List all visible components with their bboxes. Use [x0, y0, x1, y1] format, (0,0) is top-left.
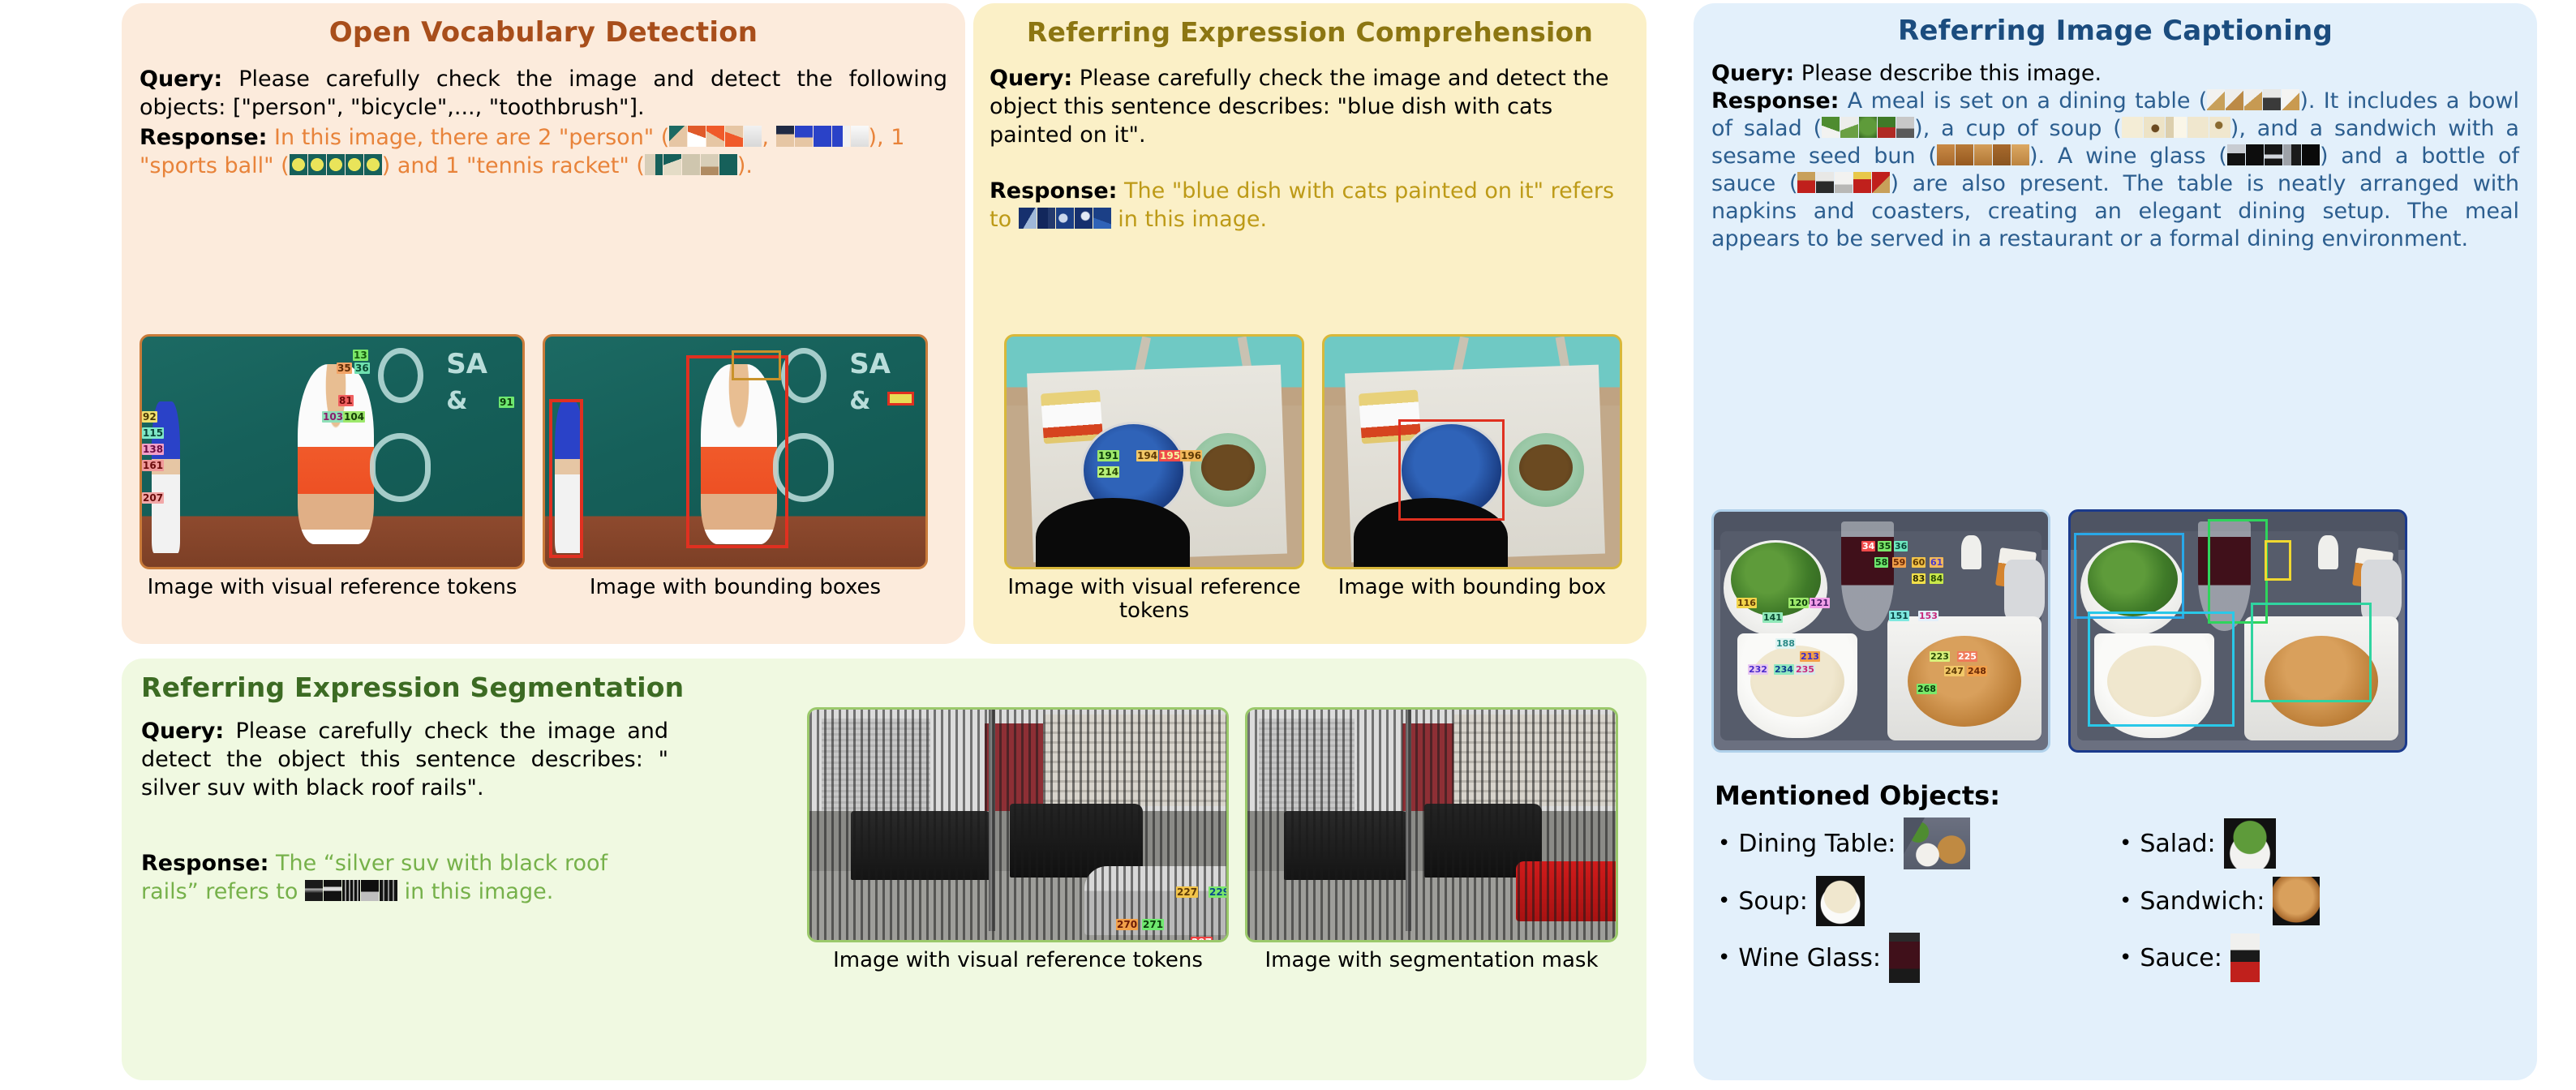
ovd-token-chips-sports-ball: [290, 154, 382, 175]
ovd-caption-left: Image with visual reference tokens: [140, 576, 525, 599]
ovd-query-block: Query: Please carefully check the image …: [140, 65, 947, 122]
token-badge: 36: [1894, 541, 1908, 551]
bullet-icon: •: [2119, 890, 2132, 912]
ric-image-bounding-boxes: [2068, 509, 2407, 753]
token-badge: 196: [1180, 450, 1202, 461]
token-badge: 104: [343, 411, 365, 423]
token-badge: 36: [354, 363, 370, 374]
bbox-sauce: [2265, 540, 2291, 581]
panel-referring-expression-comprehension: Referring Expression Comprehension Query…: [973, 3, 1646, 644]
mentioned-object-label: Soup:: [1738, 887, 1808, 916]
sponsor-logo-circle: [378, 348, 423, 403]
rec-response-seg-2: in this image.: [1118, 207, 1267, 232]
res-caption-right-text: Image with segmentation mask: [1264, 948, 1598, 972]
ric-query-text: Please describe this image.: [1801, 61, 2102, 86]
panel-title-referring-expression-segmentation: Referring Expression Segmentation: [141, 672, 1646, 703]
token-badge: 58: [1874, 557, 1888, 568]
token-badge: 13: [353, 350, 368, 361]
panel-referring-expression-segmentation: Referring Expression Segmentation Query:…: [122, 659, 1646, 1080]
napkin: [2004, 560, 2044, 621]
ric-response-label: Response:: [1711, 88, 1839, 114]
mentioned-object-item: • Sauce:: [2119, 933, 2513, 983]
bullet-icon: •: [1718, 833, 1730, 854]
ric-token-chips-sauce-bottle: [1797, 172, 1890, 193]
token-badge: 121: [1810, 598, 1830, 608]
figure-root: Open Vocabulary Detection Query: Please …: [0, 0, 2576, 1090]
ovd-response-label: Response:: [140, 125, 267, 150]
rec-caption-left: Image with visual reference tokens: [1004, 576, 1304, 623]
rec-token-chips-blue-dish: [1019, 208, 1111, 229]
token-badge: 234: [1774, 664, 1794, 675]
ovd-query-label: Query:: [140, 67, 222, 92]
token-badge: 61: [1930, 557, 1943, 568]
token-badge: 120: [1788, 598, 1809, 608]
mentioned-object-label: Salad:: [2140, 830, 2215, 858]
token-badge: 247: [1944, 666, 1964, 676]
ric-token-chips-salad: [1822, 117, 1914, 138]
fence-overlay: [1247, 710, 1616, 940]
sponsor-text-amp: &: [446, 389, 467, 414]
bullet-icon: •: [1718, 947, 1730, 968]
token-badge: 34: [1861, 541, 1875, 551]
ric-query-label: Query:: [1711, 61, 1794, 86]
bbox-sports-ball: [887, 392, 914, 406]
rec-caption-left-text: Image with visual reference tokens: [1007, 575, 1300, 623]
token-badge: 84: [1930, 573, 1943, 584]
mentioned-object-label: Wine Glass:: [1738, 944, 1881, 972]
rec-image-visual-reference-tokens: 191 214 194 195 196: [1004, 334, 1304, 569]
token-badge: 60: [1912, 557, 1926, 568]
token-badge: 161: [142, 460, 164, 471]
mentioned-object-item: • Soup:: [1718, 876, 2111, 926]
tennis-player-secondary: [152, 401, 180, 553]
token-badge: 194: [1136, 450, 1158, 461]
panel-title-referring-expression-comprehension: Referring Expression Comprehension: [973, 16, 1646, 48]
rec-query-block: Query: Please carefully check the image …: [990, 64, 1630, 149]
fence-overlay: [809, 710, 1226, 940]
tennis-player-primary: [298, 364, 374, 544]
sponsor-logo-lexus: [370, 433, 431, 502]
res-caption-left: Image with visual reference tokens: [807, 949, 1229, 972]
res-query-block: Query: Please carefully check the image …: [141, 717, 668, 802]
token-badge: 141: [1762, 612, 1783, 623]
ovd-response-seg-2: ,: [762, 125, 775, 150]
mentioned-object-label: Dining Table:: [1738, 830, 1896, 858]
mentioned-object-label: Sauce:: [2140, 944, 2222, 972]
ric-response-seg-1: A meal is set on a dining table (: [1848, 88, 2208, 114]
ovd-token-chips-person-a: [669, 126, 762, 147]
token-badge: 232: [1748, 664, 1768, 675]
ovd-token-chips-person-b: [776, 126, 869, 147]
thumbnail-soup: [1816, 876, 1865, 926]
ric-query-block: Query: Please describe this image.: [1711, 60, 2519, 88]
token-badge: 151: [1889, 611, 1909, 621]
res-caption-left-text: Image with visual reference tokens: [833, 948, 1203, 972]
ric-image-visual-reference-tokens: 34 35 36 58 59 60 61 83 84 116 120 121 1…: [1711, 509, 2050, 753]
token-badge: 59: [1892, 557, 1906, 568]
token-badge: 229: [1209, 886, 1229, 898]
token-badge: 191: [1097, 450, 1119, 461]
res-query-label: Query:: [141, 719, 224, 744]
ovd-image-bounding-boxes: SA &: [543, 334, 928, 569]
mentioned-objects-title: Mentioned Objects:: [1715, 780, 2000, 811]
ovd-response-seg-4: ) and 1 "tennis racket" (: [382, 153, 645, 178]
token-badge: 248: [1967, 666, 1987, 676]
mentioned-object-item: • Salad:: [2119, 817, 2513, 869]
bbox-salad: [2074, 533, 2184, 619]
ovd-response-seg-1: In this image, there are 2 "person" (: [274, 125, 669, 150]
token-badge: 92: [142, 411, 157, 423]
token-badge: 116: [1737, 598, 1757, 608]
res-response-label: Response:: [141, 851, 268, 876]
mentioned-object-item: • Dining Table:: [1718, 817, 2111, 869]
salt-shaker: [2318, 535, 2338, 569]
ric-token-chips-sandwich-bun: [1937, 144, 2029, 165]
token-badge: 227: [1176, 886, 1198, 898]
rec-caption-right: Image with bounding box: [1322, 576, 1622, 599]
token-badge: 83: [1912, 573, 1926, 584]
token-badge: 207: [142, 492, 164, 504]
black-cat: [1036, 498, 1189, 569]
token-badge: 225: [1957, 651, 1977, 662]
ovd-response-block: Response: In this image, there are 2 "pe…: [140, 123, 947, 180]
soup-liquid: [1750, 646, 1844, 717]
thumbnail-sauce: [2230, 933, 2260, 982]
ric-response-seg-3: ), a cup of soup (: [1914, 116, 2122, 141]
sesame-seed-bun: [1908, 636, 2021, 727]
token-badge: 153: [1918, 611, 1938, 621]
res-image-visual-reference-tokens: 227 229 270 271 297: [807, 707, 1229, 942]
ovd-token-chips-tennis-racket: [645, 154, 737, 175]
token-badge: 35: [337, 363, 352, 374]
ric-token-chips-dining-table: [2207, 89, 2299, 110]
token-badge: 270: [1116, 919, 1138, 930]
mentioned-object-label: Sandwich:: [2140, 887, 2265, 916]
token-badge: 235: [1795, 664, 1815, 675]
res-caption-right: Image with segmentation mask: [1245, 949, 1618, 972]
bbox-dining-table: [2088, 612, 2235, 726]
bullet-icon: •: [2119, 947, 2132, 968]
res-response-seg-2: in this image.: [405, 879, 554, 904]
ric-token-chips-soup: [2122, 117, 2230, 138]
token-badge: 138: [142, 444, 164, 455]
salt-shaker: [1961, 535, 1981, 569]
rec-query-text: Please carefully check the image and det…: [990, 66, 1609, 148]
token-badge: 214: [1097, 466, 1119, 478]
res-response-block: Response: The “silver suv with black roo…: [141, 849, 668, 906]
rec-query-label: Query:: [990, 66, 1072, 91]
ric-response-block: Response: A meal is set on a dining tabl…: [1711, 88, 2519, 253]
bbox-person-secondary: [549, 399, 583, 558]
ovd-caption-right-text: Image with bounding boxes: [590, 575, 881, 599]
panel-title-open-vocabulary-detection: Open Vocabulary Detection: [122, 16, 965, 49]
thumbnail-wine-glass: [1889, 933, 1920, 983]
ric-response-seg-5: ). A wine glass (: [2029, 144, 2227, 169]
ovd-image-visual-reference-tokens: SA & 13 35 36 81 103 104 91 92 115 138 1…: [140, 334, 525, 569]
mentioned-object-item: • Sandwich:: [2119, 876, 2513, 926]
token-badge: 297: [1191, 937, 1213, 942]
rec-caption-right-text: Image with bounding box: [1338, 575, 1606, 599]
sponsor-text-amp: &: [849, 389, 870, 414]
bbox-person-primary: [686, 355, 789, 549]
mentioned-object-item: • Wine Glass:: [1718, 933, 2111, 983]
token-badge: 223: [1930, 651, 1950, 662]
cat-food-tin: [1041, 390, 1103, 444]
dry-food: [1201, 444, 1255, 491]
ovd-query-text: Please carefully check the image and det…: [140, 67, 947, 120]
ric-token-chips-wine-glass: [2227, 144, 2320, 165]
wine-glass: [1841, 521, 1895, 631]
res-token-chips-silver-suv: [305, 880, 397, 901]
ovd-response-seg-5: ).: [737, 153, 753, 178]
token-badge: 103: [322, 411, 344, 423]
token-badge: 91: [499, 397, 514, 408]
bbox-blue-dish: [1398, 419, 1505, 521]
rec-response-block: Response: The "blue dish with cats paint…: [990, 177, 1630, 234]
thumbnail-dining-table: [1904, 817, 1970, 869]
bbox-sandwich: [2251, 603, 2371, 702]
token-badge: 35: [1878, 541, 1891, 551]
sponsor-text-sa: SA: [849, 350, 891, 378]
rec-image-bounding-box: [1322, 334, 1622, 569]
token-badge: 188: [1775, 638, 1796, 649]
panel-referring-image-captioning: Referring Image Captioning Query: Please…: [1694, 3, 2537, 1080]
ovd-caption-right: Image with bounding boxes: [543, 576, 928, 599]
mentioned-objects-grid: • Dining Table: • Salad: • Soup: • Sandw…: [1718, 817, 2513, 983]
bbox-tennis-racket: [732, 350, 781, 380]
dry-food: [1519, 444, 1573, 491]
thumbnail-salad: [2224, 818, 2276, 869]
token-badge: 268: [1917, 684, 1937, 694]
rec-response-label: Response:: [990, 178, 1117, 204]
sponsor-text-sa: SA: [446, 350, 487, 378]
ovd-caption-left-text: Image with visual reference tokens: [148, 575, 517, 599]
token-badge: 213: [1800, 651, 1820, 662]
panel-title-referring-image-captioning: Referring Image Captioning: [1694, 15, 2537, 47]
bullet-icon: •: [2119, 833, 2132, 854]
thumbnail-sandwich: [2273, 877, 2320, 925]
token-badge: 115: [142, 427, 164, 439]
token-badge: 271: [1142, 919, 1164, 930]
bullet-icon: •: [1718, 890, 1730, 912]
token-badge: 81: [338, 395, 354, 406]
panel-open-vocabulary-detection: Open Vocabulary Detection Query: Please …: [122, 3, 965, 644]
res-image-segmentation-mask: [1245, 707, 1618, 942]
token-badge: 195: [1159, 450, 1181, 461]
